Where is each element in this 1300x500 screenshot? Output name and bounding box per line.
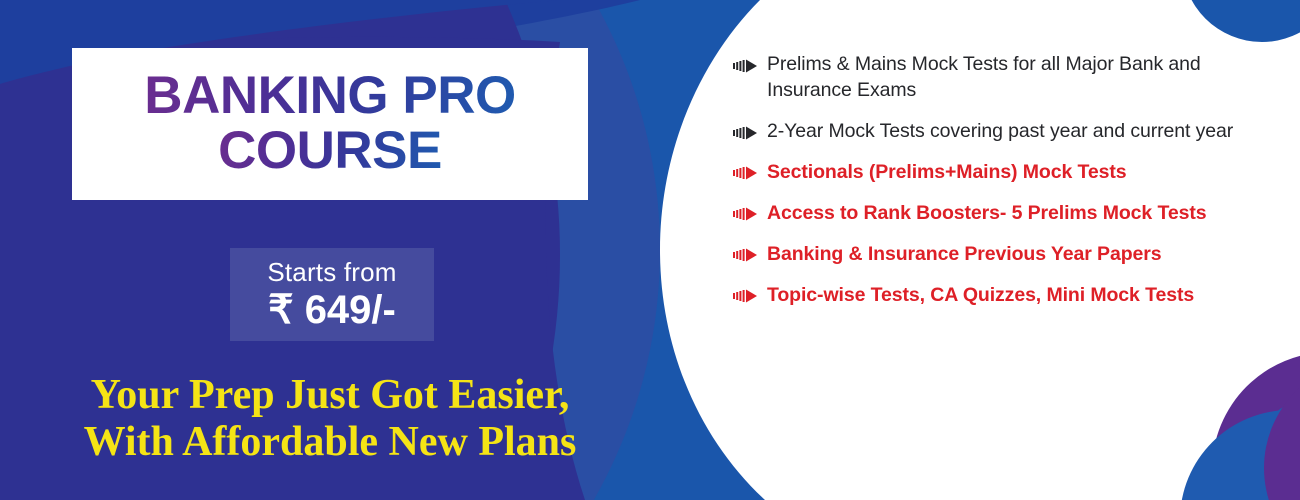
- feature-item: Sectionals (Prelims+Mains) Mock Tests: [733, 160, 1281, 186]
- price-badge: Starts from ₹ 649/-: [230, 248, 434, 341]
- tagline-line-2: With Affordable New Plans: [0, 419, 660, 466]
- speed-arrow-icon: [733, 166, 759, 180]
- feature-text: Banking & Insurance Previous Year Papers: [767, 242, 1161, 268]
- feature-item: Prelims & Mains Mock Tests for all Major…: [733, 52, 1281, 104]
- tagline-line-1: Your Prep Just Got Easier,: [91, 372, 570, 418]
- feature-text: Topic-wise Tests, CA Quizzes, Mini Mock …: [767, 283, 1194, 309]
- speed-arrow-icon: [733, 207, 759, 221]
- speed-arrow-icon: [733, 59, 759, 73]
- feature-list: Prelims & Mains Mock Tests for all Major…: [733, 52, 1281, 308]
- feature-text: Sectionals (Prelims+Mains) Mock Tests: [767, 160, 1127, 186]
- feature-text: Prelims & Mains Mock Tests for all Major…: [767, 52, 1281, 104]
- course-title-line-2: COURSE: [218, 124, 442, 179]
- speed-arrow-icon: [733, 248, 759, 262]
- promo-banner: BANKING PRO COURSE Starts from ₹ 649/- Y…: [0, 0, 1300, 500]
- feature-text: 2-Year Mock Tests covering past year and…: [767, 119, 1233, 145]
- price-amount: ₹ 649/-: [268, 288, 396, 332]
- speed-arrow-icon: [733, 289, 759, 303]
- speed-arrow-icon: [733, 126, 759, 140]
- price-label: Starts from: [267, 259, 396, 286]
- feature-item: Banking & Insurance Previous Year Papers: [733, 242, 1281, 268]
- feature-item: 2-Year Mock Tests covering past year and…: [733, 119, 1281, 145]
- feature-text: Access to Rank Boosters- 5 Prelims Mock …: [767, 201, 1206, 227]
- course-title-line-1: BANKING PRO: [144, 69, 515, 124]
- course-title-box: BANKING PRO COURSE: [72, 48, 588, 200]
- tagline: Your Prep Just Got Easier, With Affordab…: [0, 372, 660, 466]
- feature-item: Access to Rank Boosters- 5 Prelims Mock …: [733, 201, 1281, 227]
- feature-item: Topic-wise Tests, CA Quizzes, Mini Mock …: [733, 283, 1281, 309]
